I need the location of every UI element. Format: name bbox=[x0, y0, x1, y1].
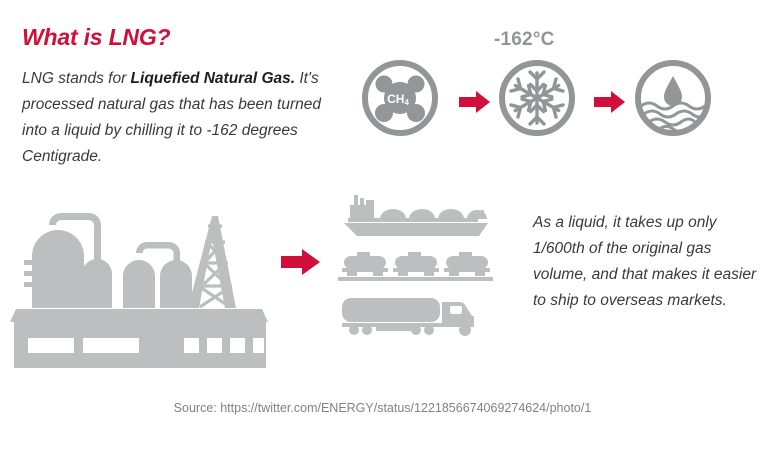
intro-text-bold: Liquefied Natural Gas. bbox=[131, 70, 296, 87]
tanker-truck-icon bbox=[338, 294, 493, 344]
methane-molecule-icon: CH4 bbox=[360, 58, 440, 143]
rail-tank-cars-icon bbox=[338, 248, 493, 295]
source-caption: Source: https://twitter.com/ENERGY/statu… bbox=[0, 401, 765, 415]
lng-plant-base bbox=[8, 322, 278, 375]
volume-paragraph: As a liquid, it takes up only 1/600th of… bbox=[533, 210, 761, 314]
snowflake-icon bbox=[497, 58, 577, 143]
temperature-label: -162°C bbox=[494, 29, 555, 51]
lng-plant-icon bbox=[8, 196, 278, 336]
liquid-water-icon bbox=[633, 58, 713, 143]
process-arrow-2-icon bbox=[594, 90, 626, 119]
intro-text-before: LNG stands for bbox=[22, 70, 131, 87]
page-title: What is LNG? bbox=[22, 24, 170, 51]
intro-paragraph: LNG stands for Liquefied Natural Gas. It… bbox=[22, 66, 342, 170]
process-arrow-1-icon bbox=[459, 90, 491, 119]
lng-carrier-ship-icon bbox=[338, 193, 493, 246]
transport-arrow-icon bbox=[281, 247, 321, 282]
